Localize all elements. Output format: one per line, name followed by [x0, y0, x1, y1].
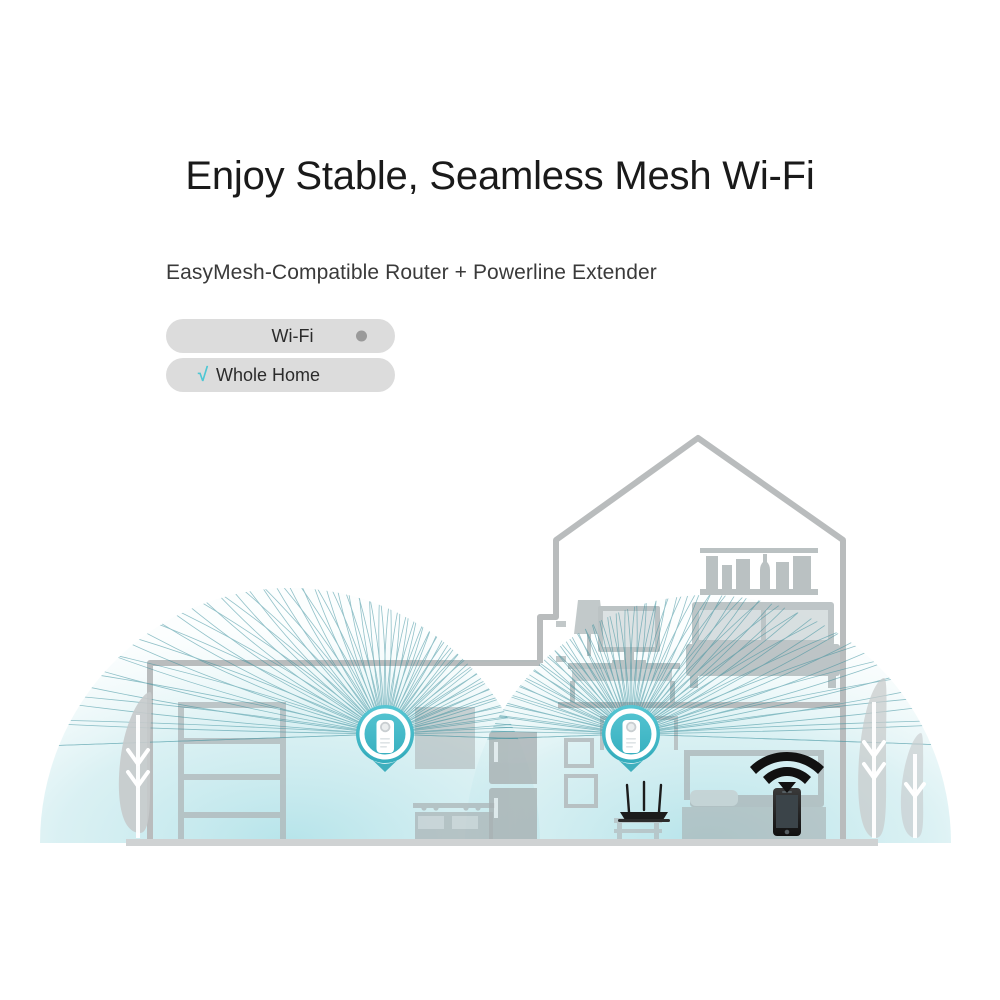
ground-line [126, 839, 878, 846]
feature-pill-label: Whole Home [216, 365, 395, 386]
display-shelf [700, 548, 818, 595]
feature-pill-whole-home[interactable]: √ Whole Home [166, 358, 395, 392]
status-dot-icon [356, 331, 367, 342]
smartphone [773, 788, 801, 836]
feature-pill-label: Wi-Fi [216, 326, 369, 347]
page-root: Enjoy Stable, Seamless Mesh Wi-Fi EasyMe… [0, 0, 1000, 1000]
feature-pill-list: Wi-Fi √ Whole Home [166, 319, 466, 397]
illustration-whole-home-mesh [0, 420, 1000, 870]
page-title: Enjoy Stable, Seamless Mesh Wi-Fi [0, 152, 1000, 200]
page-subtitle: EasyMesh-Compatible Router + Powerline E… [166, 261, 657, 285]
feature-pill-wifi[interactable]: Wi-Fi [166, 319, 395, 353]
check-icon: √ [190, 366, 216, 385]
